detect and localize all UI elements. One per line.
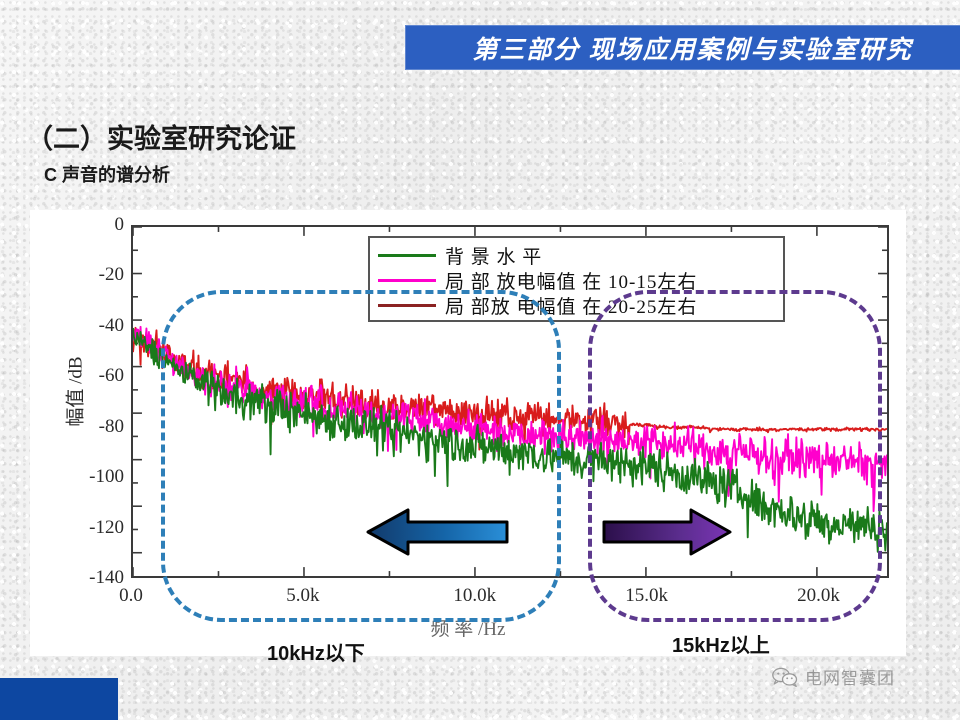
x-tick: 20.0k — [797, 585, 840, 607]
spectrum-trace — [133, 328, 887, 552]
left-arrow-shape — [368, 510, 507, 554]
right-arrow-shape — [604, 510, 730, 554]
x-tick: 0.0 — [119, 585, 143, 607]
legend-label: 局 部放 电幅值 在 20-25左右 — [445, 292, 697, 319]
legend-swatch-magenta — [378, 279, 436, 282]
page-subtitle: C 声音的谱分析 — [44, 161, 170, 187]
section-banner: 第三部分 现场应用案例与实验室研究 — [405, 25, 960, 70]
y-tick: -20 — [99, 264, 124, 286]
x-tick: 5.0k — [286, 585, 319, 607]
x-axis-label: 频 率 /Hz — [30, 614, 906, 641]
y-tick: -40 — [99, 315, 124, 337]
legend-label: 局 部 放电幅值 在 10-15左右 — [445, 267, 697, 294]
legend-swatch-green — [378, 254, 436, 257]
high-frequency-caption: 15kHz以上 — [672, 629, 770, 658]
section-banner-title: 第三部分 现场应用案例与实验室研究 — [472, 30, 912, 66]
x-tick: 15.0k — [625, 585, 668, 607]
left-arrow — [368, 508, 508, 556]
chart-card: 0 -20 -40 -60 -80 -100 -120 -140 幅值 /dB … — [30, 210, 906, 656]
legend-item-background: 背 景 水 平 — [378, 243, 775, 268]
x-tick: 10.0k — [453, 585, 496, 607]
y-tick: -80 — [99, 416, 124, 438]
legend-item-pd-10-15: 局 部 放电幅值 在 10-15左右 — [378, 268, 775, 293]
watermark-text: 电网智囊团 — [805, 664, 895, 689]
spectrum-traces — [133, 327, 887, 552]
y-tick: 0 — [115, 214, 125, 236]
corner-accent-block — [0, 678, 118, 720]
x-axis-ticks: 0.0 5.0k 10.0k 15.0k 20.0k — [131, 585, 889, 611]
right-arrow — [603, 508, 731, 556]
page-title: （二）实验室研究论证 — [26, 117, 296, 156]
y-tick: -60 — [99, 365, 124, 387]
legend-swatch-darkred — [378, 304, 436, 307]
y-tick: -100 — [89, 466, 124, 488]
legend-item-pd-20-25: 局 部放 电幅值 在 20-25左右 — [378, 293, 775, 318]
wechat-icon — [772, 667, 798, 687]
watermark: 电网智囊团 — [772, 664, 895, 689]
y-tick: -120 — [89, 517, 124, 539]
low-frequency-caption: 10kHz以下 — [267, 637, 365, 666]
chart-legend: 背 景 水 平 局 部 放电幅值 在 10-15左右 局 部放 电幅值 在 20… — [368, 236, 785, 322]
y-axis-label: 幅值 /dB — [61, 332, 88, 452]
legend-label: 背 景 水 平 — [445, 242, 542, 269]
